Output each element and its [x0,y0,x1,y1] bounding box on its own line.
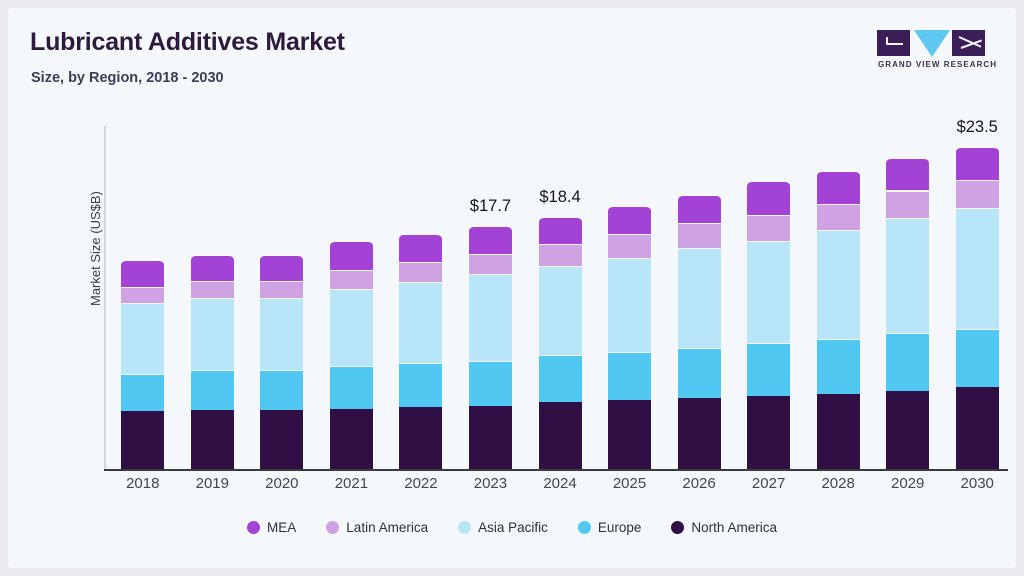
bar-group-2020[interactable]: 2020 [260,126,303,469]
bar-segment-2028-north-america[interactable] [817,394,860,469]
bar-group-2019[interactable]: 2019 [191,126,234,469]
logo-letter-g-icon [877,30,910,56]
bar-segment-2018-asia-pacific[interactable] [121,303,164,374]
bar-segment-2025-mea[interactable] [608,206,651,235]
bar-group-2021[interactable]: 2021 [330,126,373,469]
bar-group-2029[interactable]: 2029 [886,126,929,469]
x-axis-label-2025: 2025 [608,475,651,492]
x-axis-line [104,469,1008,471]
stacked-bar-2026[interactable] [678,195,721,469]
bar-segment-2023-mea[interactable] [469,226,512,253]
bar-segment-2023-europe[interactable] [469,361,512,406]
logo-text: GRAND VIEW RESEARCH [878,60,997,69]
bar-segment-2030-latin-america[interactable] [956,180,999,209]
x-axis-label-2024: 2024 [539,475,582,492]
bar-segment-2021-mea[interactable] [330,241,373,270]
bar-segment-2030-asia-pacific[interactable] [956,208,999,329]
bar-segment-2027-north-america[interactable] [747,396,790,469]
bar-segment-2025-north-america[interactable] [608,400,651,469]
x-axis-label-2028: 2028 [817,475,860,492]
bar-segment-2018-mea[interactable] [121,260,164,286]
bar-segment-2019-mea[interactable] [191,255,234,281]
x-axis-label-2029: 2029 [886,475,929,492]
legend-label: Asia Pacific [478,520,548,535]
stacked-bar-2030[interactable] [956,147,999,469]
legend-label: MEA [267,520,296,535]
stacked-bar-2021[interactable] [330,241,373,469]
bar-segment-2024-latin-america[interactable] [539,244,582,266]
legend-label: North America [691,520,777,535]
stacked-bar-2023[interactable] [469,226,512,469]
logo-triangle-v-icon [914,30,950,57]
bar-group-2023[interactable]: $17.72023 [469,126,512,469]
bar-segment-2021-europe[interactable] [330,366,373,409]
bar-segment-2019-latin-america[interactable] [191,281,234,297]
x-axis-label-2019: 2019 [191,475,234,492]
bar-segment-2020-mea[interactable] [260,255,303,281]
legend-item-asia-pacific[interactable]: Asia Pacific [458,520,548,535]
bar-segment-2019-asia-pacific[interactable] [191,298,234,371]
bar-segment-2019-europe[interactable] [191,370,234,410]
bar-group-2027[interactable]: 2027 [747,126,790,469]
bar-segment-2029-north-america[interactable] [886,391,929,469]
bar-segment-2020-asia-pacific[interactable] [260,298,303,371]
bar-segment-2028-mea[interactable] [817,171,860,204]
legend-label: Latin America [346,520,428,535]
bar-segment-2027-europe[interactable] [747,343,790,397]
bar-segment-2028-asia-pacific[interactable] [817,230,860,338]
bar-segment-2018-latin-america[interactable] [121,287,164,303]
bar-group-2018[interactable]: 2018 [121,126,164,469]
bar-value-label-2030: $23.5 [951,118,1003,137]
bar-segment-2022-north-america[interactable] [399,407,442,469]
bar-segment-2020-europe[interactable] [260,370,303,410]
bar-segment-2021-asia-pacific[interactable] [330,289,373,366]
x-axis-label-2018: 2018 [121,475,164,492]
stacked-bar-2028[interactable] [817,171,860,469]
x-axis-label-2023: 2023 [469,475,512,492]
x-axis-label-2020: 2020 [260,475,303,492]
grand-view-research-logo: GRAND VIEW RESEARCH [877,30,987,72]
bar-segment-2027-mea[interactable] [747,181,790,215]
page-title: Lubricant Additives Market [30,28,345,57]
bar-segment-2024-europe[interactable] [539,355,582,402]
bar-segment-2029-mea[interactable] [886,158,929,191]
bar-value-label-2023: $17.7 [465,197,517,216]
bar-segment-2025-europe[interactable] [608,352,651,400]
bar-segment-2018-europe[interactable] [121,374,164,411]
bar-segment-2026-mea[interactable] [678,195,721,224]
bar-group-2025[interactable]: 2025 [608,126,651,469]
legend-swatch-icon [326,521,339,534]
bar-segment-2018-north-america[interactable] [121,411,164,469]
bar-group-2026[interactable]: 2026 [678,126,721,469]
bar-segment-2025-latin-america[interactable] [608,234,651,257]
stacked-bar-2027[interactable] [747,181,790,469]
stacked-bar-2020[interactable] [260,255,303,469]
legend-swatch-icon [458,521,471,534]
legend-swatch-icon [671,521,684,534]
stacked-bar-2024[interactable] [539,217,582,469]
stacked-bar-2019[interactable] [191,255,234,469]
bar-group-2028[interactable]: 2028 [817,126,860,469]
bar-segment-2019-north-america[interactable] [191,410,234,469]
bar-segment-2024-mea[interactable] [539,217,582,244]
chart-plot-area: Market Size (US$B) 0510152025 2018201920… [104,126,1008,469]
legend-swatch-icon [578,521,591,534]
bar-segment-2024-asia-pacific[interactable] [539,266,582,355]
bar-segment-2022-latin-america[interactable] [399,262,442,283]
bar-segment-2030-mea[interactable] [956,147,999,180]
x-axis-label-2021: 2021 [330,475,373,492]
legend-item-north-america[interactable]: North America [671,520,777,535]
bar-segment-2026-europe[interactable] [678,348,721,397]
logo-mark [877,30,987,58]
bar-segment-2024-north-america[interactable] [539,402,582,469]
stacked-bar-2018[interactable] [121,260,164,469]
bar-segment-2020-latin-america[interactable] [260,281,303,297]
bar-segment-2023-latin-america[interactable] [469,254,512,275]
x-axis-label-2022: 2022 [399,475,442,492]
bar-segment-2026-north-america[interactable] [678,398,721,469]
bar-segment-2021-north-america[interactable] [330,409,373,469]
logo-g-cut-horizontal [886,43,903,45]
x-axis-label-2030: 2030 [956,475,999,492]
bar-group-2030[interactable]: $23.52030 [956,126,999,469]
bar-segment-2026-latin-america[interactable] [678,223,721,248]
x-axis-label-2026: 2026 [678,475,721,492]
bar-segment-2027-asia-pacific[interactable] [747,241,790,343]
stacked-bar-2022[interactable] [399,234,442,469]
bar-segment-2029-europe[interactable] [886,333,929,391]
legend-item-europe[interactable]: Europe [578,520,642,535]
legend-item-latin-america[interactable]: Latin America [326,520,428,535]
logo-g-cut-vertical [886,37,888,45]
legend-swatch-icon [247,521,260,534]
bar-segment-2023-north-america[interactable] [469,406,512,469]
y-axis-title: Market Size (US$B) [88,191,103,306]
bar-segment-2026-asia-pacific[interactable] [678,248,721,348]
chart-legend: MEALatin AmericaAsia PacificEuropeNorth … [8,520,1016,535]
bar-segment-2027-latin-america[interactable] [747,215,790,241]
bar-value-label-2024: $18.4 [534,188,586,207]
bar-segment-2022-mea[interactable] [399,234,442,261]
bar-segment-2020-north-america[interactable] [260,410,303,469]
bar-segment-2028-latin-america[interactable] [817,204,860,230]
stacked-bar-2029[interactable] [886,158,929,469]
page-subtitle: Size, by Region, 2018 - 2030 [31,70,224,86]
x-axis-label-2027: 2027 [747,475,790,492]
legend-label: Europe [598,520,642,535]
bar-group-2022[interactable]: 2022 [399,126,442,469]
bar-segment-2022-europe[interactable] [399,363,442,407]
stacked-bar-2025[interactable] [608,206,651,469]
bar-segment-2023-asia-pacific[interactable] [469,274,512,360]
bar-segment-2025-asia-pacific[interactable] [608,258,651,353]
bar-segment-2029-asia-pacific[interactable] [886,218,929,333]
bar-segment-2030-north-america[interactable] [956,387,999,469]
bar-segment-2028-europe[interactable] [817,339,860,394]
bar-segment-2030-europe[interactable] [956,329,999,387]
bar-segment-2021-latin-america[interactable] [330,270,373,289]
logo-letter-r-icon [952,30,985,56]
bar-segment-2022-asia-pacific[interactable] [399,282,442,363]
legend-item-mea[interactable]: MEA [247,520,296,535]
bar-group-2024[interactable]: $18.42024 [539,126,582,469]
chart-card: Lubricant Additives Market Size, by Regi… [8,8,1016,568]
bar-segment-2029-latin-america[interactable] [886,191,929,218]
